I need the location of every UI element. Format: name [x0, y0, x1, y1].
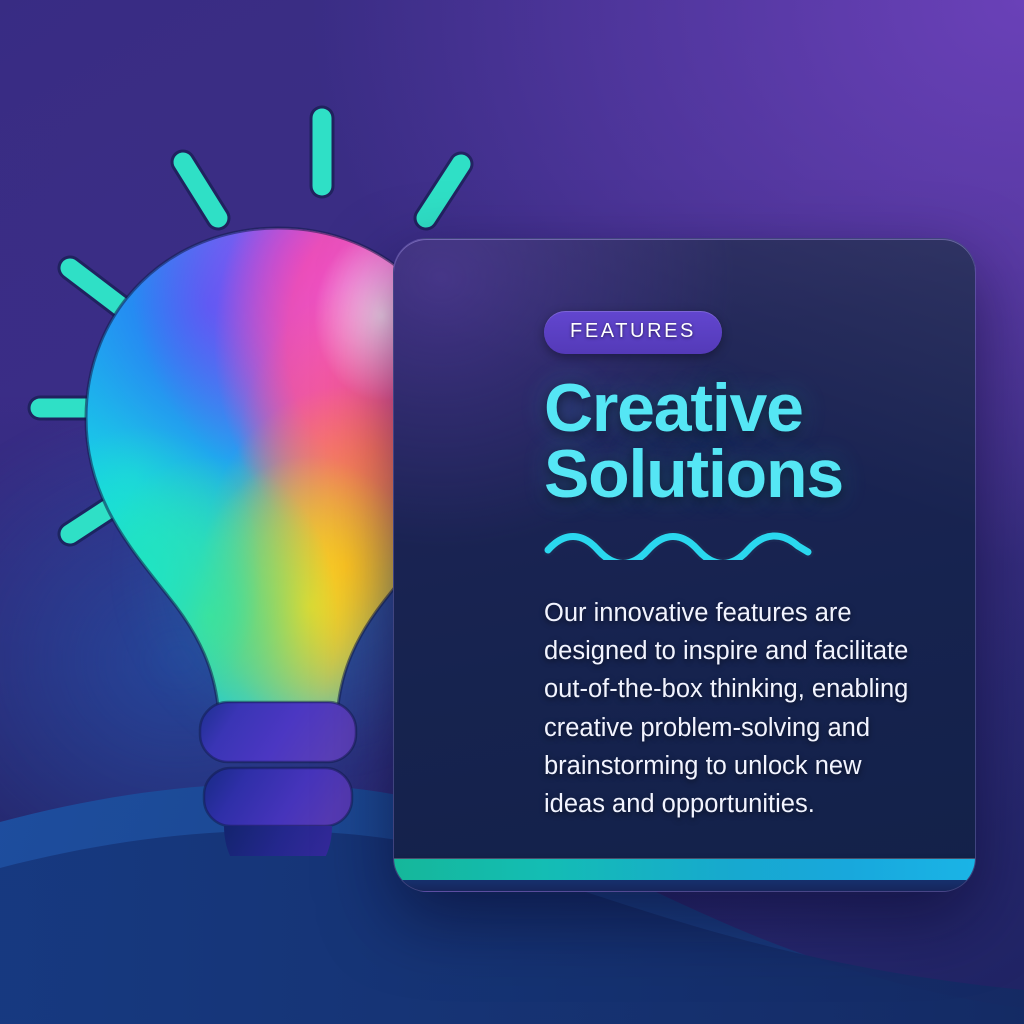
wavy-line-divider [544, 530, 814, 560]
base-ring-lower [204, 768, 352, 826]
page-title: Creative Solutions [544, 376, 944, 508]
card-bottom-lip [394, 880, 975, 891]
features-badge[interactable]: FEATURES [544, 311, 722, 354]
base-ring-upper [200, 702, 356, 762]
card-accent-bar [394, 859, 975, 881]
card-content: FEATURES Creative Solutions Our innovati… [544, 311, 944, 823]
bulb-base [200, 702, 356, 856]
feature-description: Our innovative features are designed to … [544, 594, 922, 824]
base-contact [224, 826, 332, 856]
feature-card: FEATURES Creative Solutions Our innovati… [393, 238, 976, 892]
feature-card-graphic: FEATURES Creative Solutions Our innovati… [0, 0, 1024, 1024]
